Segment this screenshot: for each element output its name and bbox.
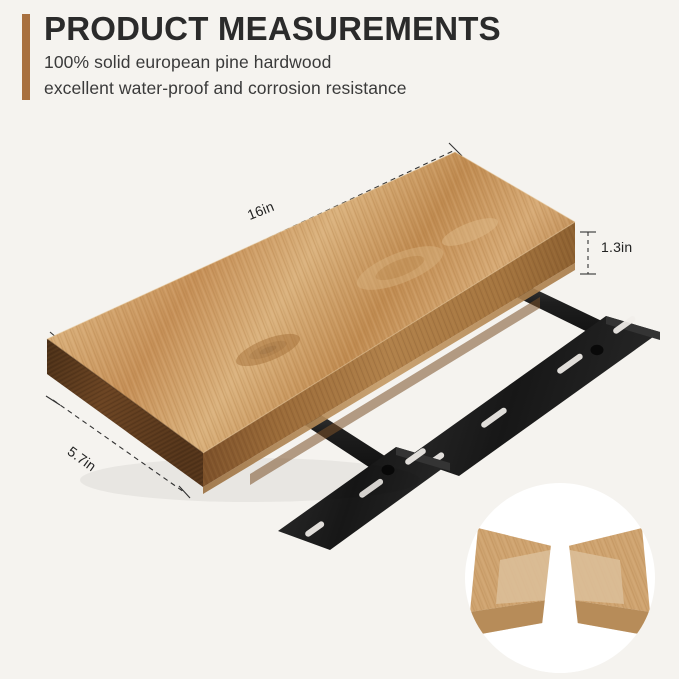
wall-bracket (278, 282, 660, 550)
accent-bar (22, 14, 30, 100)
page-title: PRODUCT MEASUREMENTS (44, 10, 501, 48)
subtitle-line-1: 100% solid european pine hardwood (44, 52, 331, 73)
detail-inset (465, 483, 655, 679)
dimension-label-thickness: 1.3in (601, 239, 632, 255)
wood-shelf (47, 152, 575, 502)
product-illustration (0, 0, 679, 679)
dimension-lines (46, 143, 596, 498)
infographic-canvas: PRODUCT MEASUREMENTS 100% solid european… (0, 0, 679, 679)
dimension-label-depth: 5.7in (65, 443, 100, 474)
dimension-label-length: 16in (245, 198, 276, 223)
subtitle-line-2: excellent water-proof and corrosion resi… (44, 78, 407, 99)
